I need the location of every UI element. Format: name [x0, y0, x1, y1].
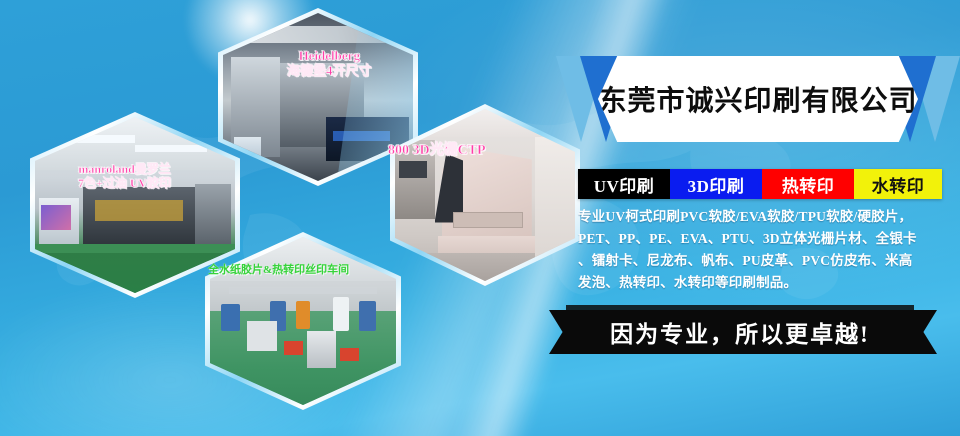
title-plate: 东莞市诚兴印刷有限公司 — [598, 56, 918, 142]
description-line: 发泡、热转印、水转印等印刷制品。 — [578, 272, 950, 294]
promotional-banner: Heidelberg 海德堡4开尺寸 manroland曼罗兰 7色+过油 UV… — [0, 0, 960, 436]
ribbon-tail-right — [903, 310, 937, 354]
tag-3d-printing[interactable]: 3D印刷 — [670, 169, 762, 199]
slogan-ribbon: 因为专业，所以更卓越! — [575, 310, 905, 354]
description-line: 、镭射卡、尼龙布、帆布、PU皮革、PVC仿皮布、米高 — [578, 250, 950, 272]
photo-hex-heidelberg — [218, 8, 418, 186]
tag-water-transfer[interactable]: 水转印 — [854, 169, 942, 199]
tag-heat-transfer[interactable]: 热转印 — [762, 169, 854, 199]
description-line: PET、PP、PE、EVA、PTU、3D立体光栅片材、全银卡 — [578, 228, 950, 250]
photo-hex-ctp — [390, 104, 580, 286]
company-title-banner: 东莞市诚兴印刷有限公司 — [556, 56, 960, 142]
slogan-text: 因为专业，所以更卓越! — [610, 315, 870, 349]
photo-hex-workshop — [205, 232, 401, 410]
description-line: 专业UV柯式印刷PVC软胶/EVA软胶/TPU软胶/硬胶片， — [578, 206, 950, 228]
company-name: 东莞市诚兴印刷有限公司 — [598, 79, 917, 119]
photo-hex-manroland — [30, 112, 240, 298]
service-tag-list: UV印刷 3D印刷 热转印 水转印 — [578, 169, 942, 199]
tag-uv-printing[interactable]: UV印刷 — [578, 169, 670, 199]
service-description: 专业UV柯式印刷PVC软胶/EVA软胶/TPU软胶/硬胶片， PET、PP、PE… — [578, 206, 950, 294]
